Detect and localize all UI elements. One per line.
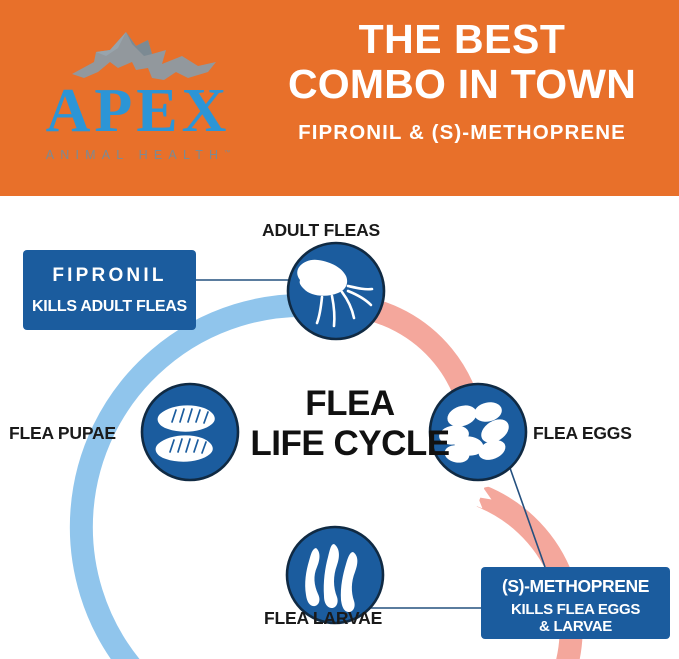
- header-title-line2: COMBO IN TOWN: [256, 63, 668, 106]
- node-circle-flea-pupae[interactable]: [142, 384, 238, 480]
- center-title-line2: LIFE CYCLE: [230, 424, 470, 464]
- center-title: FLEA LIFE CYCLE: [230, 384, 470, 463]
- logo-tagline: ANIMAL HEALTH™: [18, 148, 258, 162]
- apex-logo: APEX ANIMAL HEALTH™: [18, 22, 264, 182]
- callout-s-methoprene[interactable]: (S)-METHOPRENE KILLS FLEA EGGS & LARVAE: [481, 567, 670, 639]
- header-text-block: THE BEST COMBO IN TOWN FIPRONIL & (S)-ME…: [256, 18, 668, 145]
- callout-fipronil[interactable]: FIPRONIL KILLS ADULT FLEAS: [23, 250, 196, 330]
- header-banner: APEX ANIMAL HEALTH™ THE BEST COMBO IN TO…: [0, 0, 679, 196]
- callout-methoprene-title: (S)-METHOPRENE: [481, 576, 670, 597]
- header-title-line1: THE BEST: [256, 18, 668, 61]
- logo-tagline-text: ANIMAL HEALTH: [46, 148, 225, 162]
- center-title-line1: FLEA: [230, 384, 470, 424]
- infographic-root: APEX ANIMAL HEALTH™ THE BEST COMBO IN TO…: [0, 0, 679, 659]
- logo-trademark: ™: [224, 150, 230, 156]
- callout-fipronil-subtitle: KILLS ADULT FLEAS: [23, 298, 196, 316]
- callout-methoprene-subtitle-line1: KILLS FLEA EGGS: [481, 602, 670, 619]
- callout-methoprene-subtitle-line2: & LARVAE: [481, 619, 670, 636]
- node-label-flea-eggs: FLEA EGGS: [533, 423, 632, 444]
- node-circle-adult-fleas[interactable]: [288, 243, 384, 339]
- callout-methoprene-subtitle: KILLS FLEA EGGS & LARVAE: [481, 602, 670, 636]
- logo-wordmark: APEX: [18, 80, 258, 142]
- callout-fipronil-title: FIPRONIL: [23, 265, 196, 287]
- node-label-flea-larvae: FLEA LARVAE: [264, 608, 382, 629]
- node-label-flea-pupae: FLEA PUPAE: [9, 423, 116, 444]
- ring-arc-left-blue: [81, 305, 320, 659]
- flea-life-cycle-diagram: ADULT FLEAS FLEA EGGS FLEA LARVAE FLEA P…: [0, 196, 679, 659]
- header-subtitle: FIPRONIL & (S)-METHOPRENE: [256, 121, 668, 145]
- node-label-adult-fleas: ADULT FLEAS: [262, 220, 380, 241]
